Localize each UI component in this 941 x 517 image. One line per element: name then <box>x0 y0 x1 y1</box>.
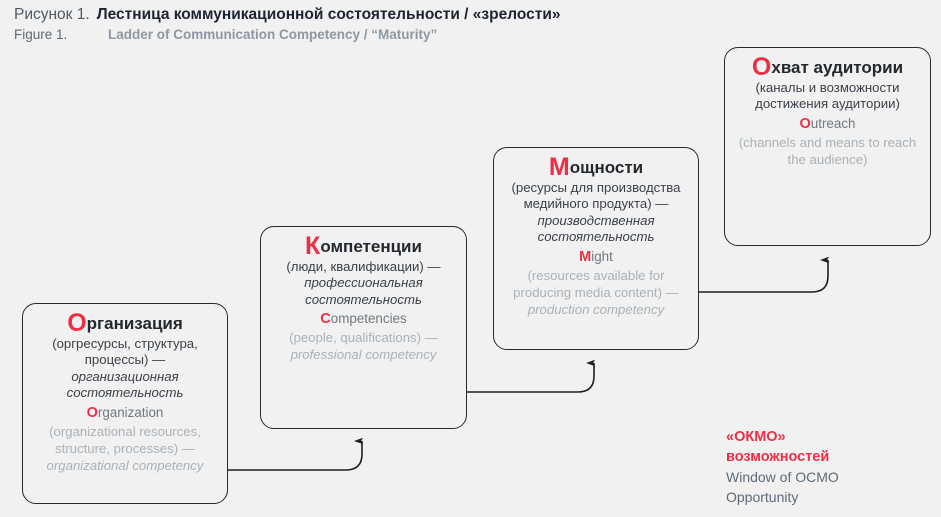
node-title-rest: рганизация <box>87 314 183 333</box>
figure-header-russian-row: Рисунок 1. Лестница коммуникационной сос… <box>14 6 929 24</box>
node-en-italic: organizational competency <box>29 458 221 475</box>
arrow-might-to-outreach <box>699 260 828 292</box>
node-title-might: Мощности <box>500 156 692 179</box>
node-title-capital-letter: М <box>549 153 570 181</box>
okmo-legend-en-line1: Window of OCMO <box>726 467 926 487</box>
node-title-rest: омпетенции <box>320 237 422 256</box>
node-en-subtitle: (people, qualifications) — <box>267 330 460 347</box>
node-en-italic: production competency <box>500 302 692 319</box>
okmo-legend-en-line2: Opportunity <box>726 487 926 507</box>
arrow-competencies-to-might <box>467 363 594 392</box>
node-en-capital-letter: O <box>87 405 98 421</box>
node-box-outreach[interactable]: Охват аудитории (каналы и возможности до… <box>724 47 931 246</box>
node-en-title: Competencies <box>267 309 460 330</box>
node-title-capital-letter: О <box>67 309 86 337</box>
node-en-title-rest: ight <box>591 249 613 264</box>
node-title-rest: хват аудитории <box>771 58 903 77</box>
node-en-capital-letter: M <box>579 249 591 265</box>
node-en-title-rest: utreach <box>811 116 856 131</box>
node-ru-italic: организационная состоятельность <box>29 369 221 402</box>
node-ru-subtitle: (ресурсы для производства медийного прод… <box>500 180 692 213</box>
node-en-subtitle: (organizational resources, structure, pr… <box>29 424 221 458</box>
node-title-capital-letter: О <box>752 53 771 81</box>
node-ru-italic: профессиональная состоятельность <box>267 275 460 308</box>
node-en-title: Organization <box>29 403 221 424</box>
node-title-rest: ощности <box>570 158 643 177</box>
node-title-competencies: Компетенции <box>267 235 460 258</box>
figure-header-english-row: Figure 1. Ladder of Communication Compet… <box>14 27 929 42</box>
node-en-capital-letter: C <box>320 311 330 327</box>
node-en-title: Outreach <box>731 114 924 135</box>
node-en-subtitle: (channels and means to reach the audienc… <box>731 135 924 169</box>
node-en-title-rest: ompetencies <box>331 311 407 326</box>
node-en-capital-letter: O <box>800 116 811 132</box>
node-title-organization: Организация <box>29 312 221 335</box>
okmo-legend-ru-line1: «ОКМО» <box>726 428 926 448</box>
node-ru-italic: производственная состоятельность <box>500 213 692 246</box>
node-en-subtitle: (resources available for producing media… <box>500 268 692 302</box>
node-box-organization[interactable]: Организация (оргресурсы, структура, проц… <box>22 303 228 504</box>
figure-number-ru: Рисунок 1. <box>14 6 90 24</box>
node-title-capital-letter: К <box>305 232 320 260</box>
figure-header: Рисунок 1. Лестница коммуникационной сос… <box>14 6 929 42</box>
node-en-title: Might <box>500 247 692 268</box>
okmo-legend: «ОКМО» возможностей Window of OCMO Oppor… <box>726 428 926 508</box>
node-en-italic: professional competency <box>267 347 460 364</box>
node-ru-subtitle: (люди, квалификации) — <box>267 259 460 276</box>
figure-number-en: Figure 1. <box>14 27 92 42</box>
okmo-legend-ru-line2: возможностей <box>726 448 926 468</box>
node-box-competencies[interactable]: Компетенции (люди, квалификации) — профе… <box>260 226 467 429</box>
node-en-title-rest: rganization <box>98 405 164 420</box>
node-box-might[interactable]: Мощности (ресурсы для производства медий… <box>493 147 699 350</box>
node-ru-subtitle: (оргресурсы, структура, процессы) — <box>29 336 221 369</box>
figure-title-en: Ladder of Communication Competency / “Ma… <box>108 27 437 42</box>
figure-title-ru: Лестница коммуникационной состоятельност… <box>97 6 561 24</box>
arrow-organization-to-competencies <box>228 441 362 470</box>
node-ru-subtitle: (каналы и возможности достижения аудитор… <box>731 80 924 113</box>
node-title-outreach: Охват аудитории <box>731 56 924 79</box>
